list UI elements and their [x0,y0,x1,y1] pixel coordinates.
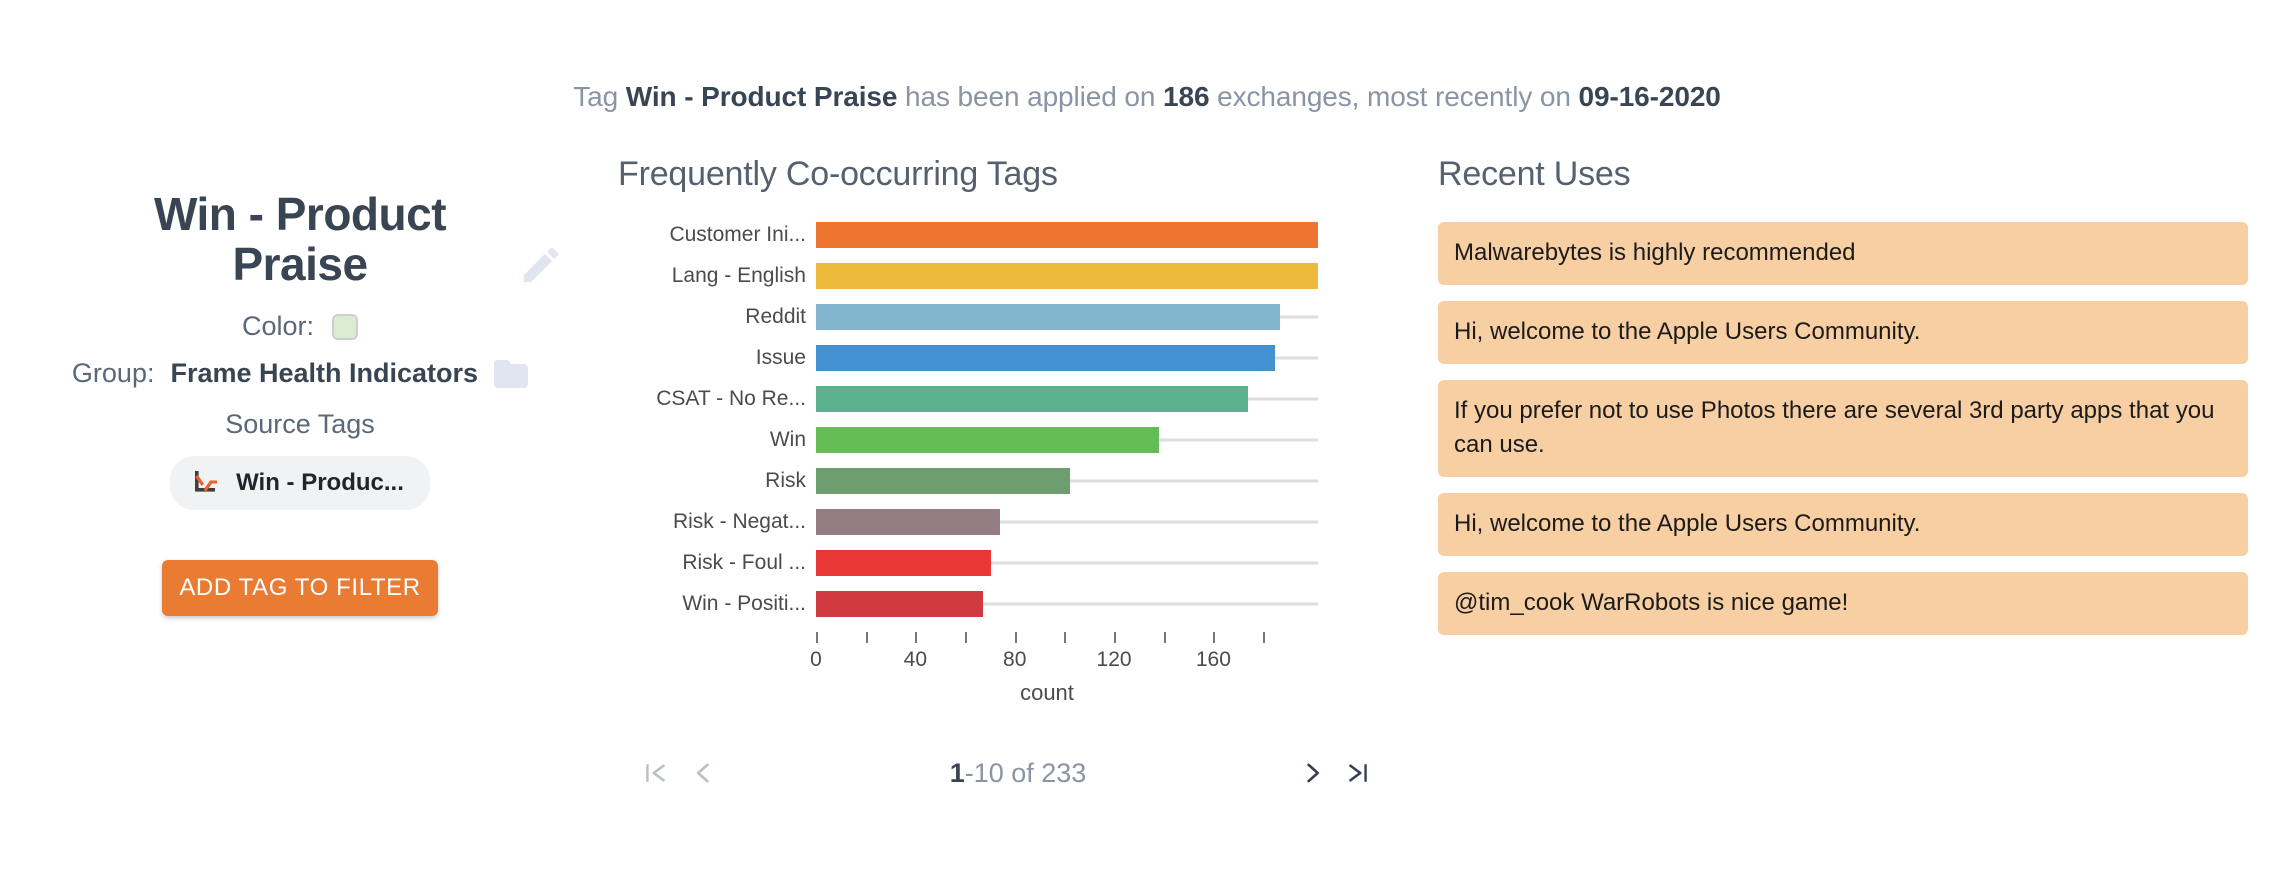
bar-category-label[interactable]: Risk - Foul ... [618,551,816,575]
x-axis-tick [1114,632,1116,643]
x-axis-tick [816,632,818,643]
bar-track [816,222,1318,248]
recent-use-item[interactable]: Malwarebytes is highly recommended [1438,222,2248,285]
bar-track [816,263,1318,289]
bar-category-label[interactable]: CSAT - No Re... [618,387,816,411]
bar[interactable] [816,509,1000,535]
bar-category-label[interactable]: Reddit [618,305,816,329]
bar[interactable] [816,427,1159,453]
bar[interactable] [816,345,1275,371]
folder-icon[interactable] [494,360,528,388]
x-axis-title: count [816,680,1278,706]
source-tag-glyph-icon [190,467,222,499]
bar-category-label[interactable]: Lang - English [618,264,816,288]
first-page-icon [641,758,671,788]
chevron-left-icon [688,758,718,788]
bar[interactable] [816,386,1248,412]
x-axis-tick [915,632,917,643]
bar-track [816,550,1318,576]
recent-use-item[interactable]: If you prefer not to use Photos there ar… [1438,380,2248,478]
bar-track [816,427,1318,453]
x-axis-tick-label: 0 [810,648,822,672]
bar[interactable] [816,591,983,617]
bar[interactable] [816,304,1280,330]
pagination-current-page: 1 [950,758,965,788]
summary-date: 09-16-2020 [1579,81,1721,112]
bar[interactable] [816,222,1318,248]
tag-color-swatch[interactable] [332,314,358,340]
x-axis-tick-label: 40 [904,648,927,672]
summary-count: 186 [1163,81,1209,112]
bar[interactable] [816,468,1070,494]
tag-group-row: Group: Frame Health Indicators [0,358,600,389]
summary-tag-name: Win - Product Praise [626,81,898,112]
co-occurring-tags-panel: Frequently Co-occurring Tags Customer In… [618,155,1318,522]
bar-track [816,304,1318,330]
color-label: Color: [242,311,314,342]
summary-middle: has been applied on [897,81,1163,112]
bar-track [816,468,1318,494]
bar-chart-row: Risk - Negat... [618,509,1318,535]
bar-chart-row: Customer Ini... [618,222,1318,248]
edit-tag-button[interactable] [518,242,564,288]
pencil-icon [518,242,564,288]
x-axis: count 04080120160 [816,632,1278,688]
source-tag-chip[interactable]: Win - Produc... [170,456,430,510]
bar-chart-row: CSAT - No Re... [618,386,1318,412]
chart-pagination: 1-10 of 233 [618,748,1418,798]
x-axis-tick-label: 80 [1003,648,1026,672]
x-axis-tick-label: 160 [1196,648,1231,672]
last-page-button[interactable] [1337,752,1379,794]
summary-middle-2: exchanges, most recently on [1209,81,1578,112]
recent-uses-list: Malwarebytes is highly recommendedHi, we… [1438,222,2248,635]
x-axis-tick-label: 120 [1097,648,1132,672]
x-axis-tick [1213,632,1215,643]
bar[interactable] [816,263,1318,289]
bar-category-label[interactable]: Issue [618,346,816,370]
bar-category-label[interactable]: Customer Ini... [618,223,816,247]
source-tags-list: Win - Produc... [0,456,600,510]
x-axis-tick [1263,632,1265,643]
x-axis-tick [1164,632,1166,643]
chevron-right-icon [1298,758,1328,788]
bar-category-label[interactable]: Risk - Negat... [618,510,816,534]
previous-page-button[interactable] [682,752,724,794]
bar-category-label[interactable]: Win - Positi... [618,592,816,616]
bar-chart-row: Lang - English [618,263,1318,289]
bar-track [816,509,1318,535]
bar-track [816,345,1318,371]
bar-chart-row: Reddit [618,304,1318,330]
next-page-button[interactable] [1292,752,1334,794]
recent-use-item[interactable]: Hi, welcome to the Apple Users Community… [1438,493,2248,556]
bar-chart-row: Win [618,427,1318,453]
tag-info-panel: Win - Product Praise Color: Group: Frame… [0,190,600,616]
bar-track [816,386,1318,412]
bar-chart-row: Risk [618,468,1318,494]
add-tag-to-filter-button[interactable]: ADD TAG TO FILTER [162,560,438,616]
tag-detail-page: Tag Win - Product Praise has been applie… [0,0,2294,872]
source-tag-chip-label: Win - Produc... [236,469,404,497]
folder-body [494,364,528,388]
x-axis-tick [1064,632,1066,643]
x-axis-tick [965,632,967,643]
tag-color-row: Color: [0,311,600,342]
summary-prefix: Tag [573,81,626,112]
bar-chart-row: Win - Positi... [618,591,1318,617]
recent-use-item[interactable]: Hi, welcome to the Apple Users Community… [1438,301,2248,364]
bar-category-label[interactable]: Win [618,428,816,452]
chart-title: Frequently Co-occurring Tags [618,155,1318,194]
tag-summary-line: Tag Win - Product Praise has been applie… [0,81,2294,113]
bar-chart: Customer Ini...Lang - EnglishRedditIssue… [618,222,1318,522]
last-page-icon [1343,758,1373,788]
recent-uses-panel: Recent Uses Malwarebytes is highly recom… [1438,155,2248,651]
bar[interactable] [816,550,991,576]
bar-chart-row: Issue [618,345,1318,371]
x-axis-tick [866,632,868,643]
bar-chart-row: Risk - Foul ... [618,550,1318,576]
source-tags-label: Source Tags [0,409,600,440]
x-axis-tick [1015,632,1017,643]
first-page-button[interactable] [635,752,677,794]
recent-use-item[interactable]: @tim_cook WarRobots is nice game! [1438,572,2248,635]
bar-category-label[interactable]: Risk [618,469,816,493]
bar-chart-rows: Customer Ini...Lang - EnglishRedditIssue… [618,222,1318,617]
group-label: Group: [72,358,155,389]
pagination-range-rest: -10 of 233 [965,758,1087,788]
recent-uses-title: Recent Uses [1438,155,2248,194]
group-name: Frame Health Indicators [170,358,478,389]
page-title: Win - Product Praise [90,190,510,289]
bar-track [816,591,1318,617]
